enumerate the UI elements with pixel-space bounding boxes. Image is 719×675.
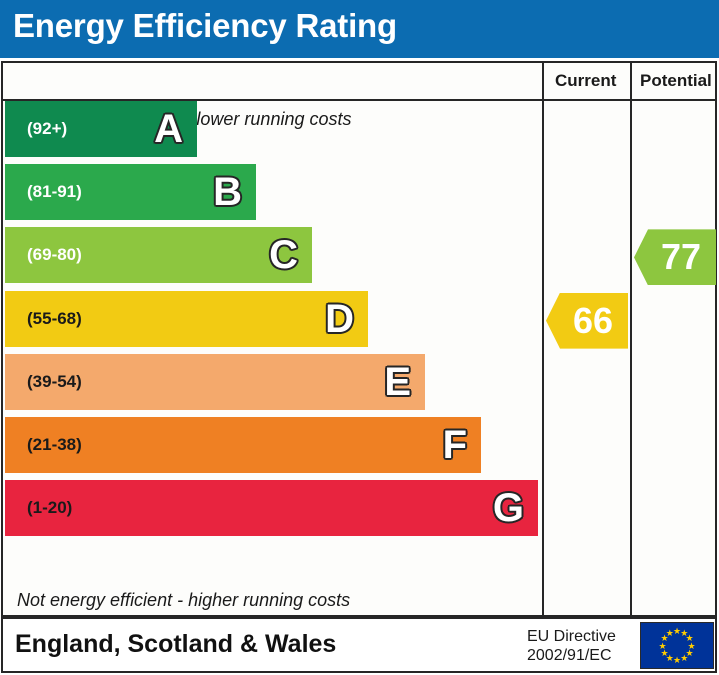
directive-line-2: 2002/91/EC [527,646,616,665]
column-divider-potential [630,63,632,615]
band-row-d: (55-68)D [5,291,368,347]
band-range-f: (21-38) [27,435,82,455]
band-row-f: (21-38)F [5,417,481,473]
eu-flag-star: ★ [666,629,674,637]
column-header-row: Current Potential [3,63,715,101]
page-title: Energy Efficiency Rating [13,7,397,45]
column-header-current: Current [555,71,616,91]
band-row-b: (81-91)B [5,164,256,220]
band-letter-g: G [493,488,524,528]
band-letter-d: D [325,299,354,339]
band-range-d: (55-68) [27,309,82,329]
band-range-b: (81-91) [27,182,82,202]
band-letter-a: A [154,109,183,149]
column-header-potential: Potential [640,71,712,91]
potential-rating-value: 77 [661,239,701,275]
band-letter-f: F [443,425,467,465]
band-letter-c: C [269,235,298,275]
title-bar: Energy Efficiency Rating [0,0,719,58]
directive-line-1: EU Directive [527,627,616,646]
eu-flag-icon: ★★★★★★★★★★★★ [640,622,714,669]
footer: England, Scotland & Wales EU Directive 2… [1,617,717,673]
current-rating-value: 66 [573,303,613,339]
footer-region-label: England, Scotland & Wales [15,630,336,659]
band-row-a: (92+)A [5,101,197,157]
band-row-e: (39-54)E [5,354,425,410]
band-list: (92+)A(81-91)B(69-80)C(55-68)D(39-54)E(2… [3,101,540,617]
band-range-e: (39-54) [27,372,82,392]
eu-flag-star: ★ [680,654,688,662]
column-divider-current [542,63,544,615]
rating-table: Current Potential Very energy efficient … [1,61,717,617]
band-range-a: (92+) [27,119,67,139]
band-range-g: (1-20) [27,498,72,518]
footer-directive: EU Directive 2002/91/EC [527,627,616,665]
current-rating-marker: 66 [546,293,628,349]
band-row-c: (69-80)C [5,227,312,283]
band-row-g: (1-20)G [5,480,538,536]
band-letter-e: E [384,362,411,402]
potential-rating-marker: 77 [634,229,716,285]
band-range-c: (69-80) [27,245,82,265]
epc-chart: Energy Efficiency Rating Current Potenti… [0,0,719,675]
eu-flag-star: ★ [673,656,681,664]
band-letter-b: B [213,172,242,212]
